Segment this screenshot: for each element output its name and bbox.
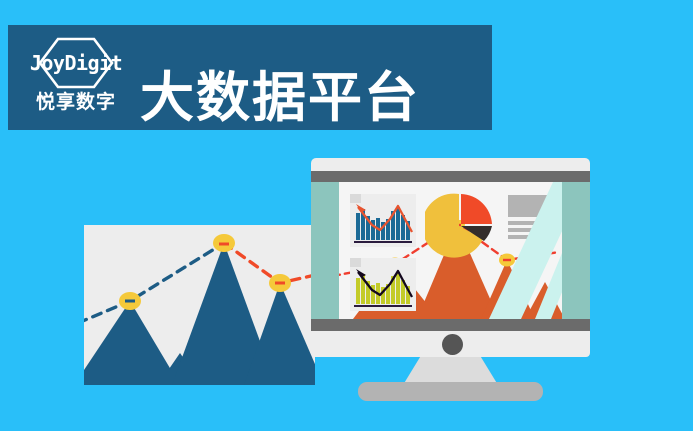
logo-wordmark: JoyDigit xyxy=(20,53,132,73)
monitor-stand-base xyxy=(358,382,543,401)
header-banner: JoyDigit 悦享数字 大数据平台 xyxy=(8,25,492,130)
placeholder-line xyxy=(508,228,553,232)
logo-subtitle: 悦享数字 xyxy=(20,93,132,112)
monitor-stand-neck xyxy=(403,357,498,385)
poster-canvas: JoyDigit 悦享数字 大数据平台 xyxy=(0,0,693,431)
placeholder-line xyxy=(508,235,553,239)
monitor-bottom-bezel-bar xyxy=(311,319,590,331)
bar-chart-olive xyxy=(350,258,416,311)
brand-logo: JoyDigit 悦享数字 xyxy=(20,31,132,125)
placeholder-line xyxy=(508,221,553,225)
bar-chart-blue xyxy=(350,194,416,247)
blue-mountain-chart xyxy=(84,225,315,385)
desktop-monitor xyxy=(311,158,590,391)
monitor-screen xyxy=(311,182,590,319)
screen-side-band-right xyxy=(562,182,590,319)
power-button-icon[interactable] xyxy=(442,334,463,355)
mountain-area-chart-panel xyxy=(84,225,315,385)
text-placeholder-block xyxy=(508,195,553,240)
page-title: 大数据平台 xyxy=(140,71,420,125)
placeholder-image xyxy=(508,195,553,217)
dashboard-canvas xyxy=(339,182,562,319)
pie-chart xyxy=(425,192,497,260)
monitor-top-bezel-bar xyxy=(311,171,590,182)
screen-side-band-left xyxy=(311,182,339,319)
